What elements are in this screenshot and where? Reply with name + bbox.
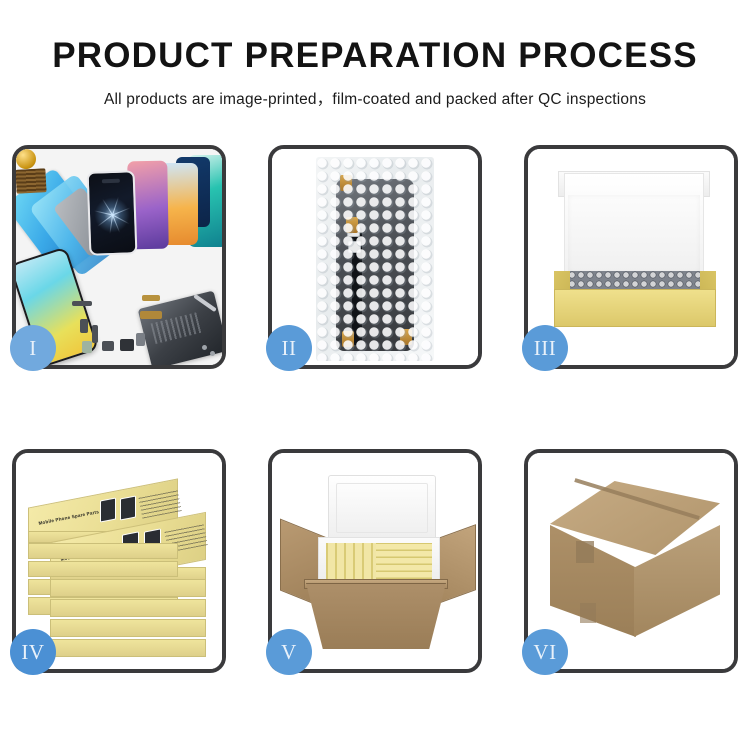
stacked-box	[50, 579, 206, 597]
process-step-panel-6: VI	[524, 449, 738, 673]
small-part-icon	[72, 301, 92, 306]
small-part-icon	[102, 341, 114, 351]
step-badge-6: VI	[522, 629, 568, 675]
stacked-box	[28, 543, 178, 559]
stacked-box	[50, 599, 206, 617]
small-part-icon	[142, 295, 160, 301]
product-preparation-infographic: PRODUCT PREPARATION PROCESS All products…	[0, 0, 750, 750]
box-stack: Mobile Phone Spare Parts Mobile Phone Sp…	[22, 475, 222, 665]
box-front-wall	[554, 289, 716, 327]
process-step-panel-3: III	[524, 145, 738, 369]
bubble-texture	[316, 157, 434, 361]
box-thumbnail	[120, 495, 136, 520]
page-title: PRODUCT PREPARATION PROCESS	[0, 38, 750, 75]
screw-icon	[210, 351, 215, 356]
small-part-icon	[80, 319, 88, 333]
step-badge-1: I	[10, 325, 56, 371]
stacked-box	[28, 561, 178, 577]
bubble-wrap-bag	[316, 157, 434, 361]
page-subtitle: All products are image-printed，film-coat…	[0, 87, 750, 109]
foam-sheet	[568, 195, 700, 273]
gold-coil-part-icon	[16, 149, 36, 169]
box-thumbnail	[100, 497, 116, 522]
stacked-box	[50, 639, 206, 657]
header: PRODUCT PREPARATION PROCESS All products…	[0, 0, 750, 109]
small-part-icon	[136, 333, 145, 346]
cracked-screen-phone-icon	[87, 170, 138, 256]
step-badge-4: IV	[10, 629, 56, 675]
small-part-icon	[120, 339, 134, 351]
screen-crack-icon	[91, 194, 132, 235]
small-part-icon	[140, 311, 162, 319]
process-step-panel-4: Mobile Phone Spare Parts Mobile Phone Sp…	[12, 449, 226, 673]
process-step-grid: I II	[12, 145, 738, 673]
stacked-box	[50, 619, 206, 637]
process-step-panel-1: I	[12, 145, 226, 369]
small-part-icon	[82, 341, 92, 353]
foam-box-lid	[328, 475, 436, 541]
step-badge-3: III	[522, 325, 568, 371]
process-step-panel-5: V	[268, 449, 482, 673]
step-badge-2: II	[266, 325, 312, 371]
screw-icon	[202, 345, 207, 350]
step-badge-5: V	[266, 629, 312, 675]
carton-tape-patch	[576, 541, 594, 563]
carton-body	[306, 583, 446, 649]
carton-tape-patch	[580, 603, 596, 623]
small-part-icon	[92, 325, 98, 343]
chip-grid-part-icon	[16, 168, 47, 194]
process-step-panel-2: II	[268, 145, 482, 369]
yellow-boxes-inside-2	[376, 543, 432, 579]
